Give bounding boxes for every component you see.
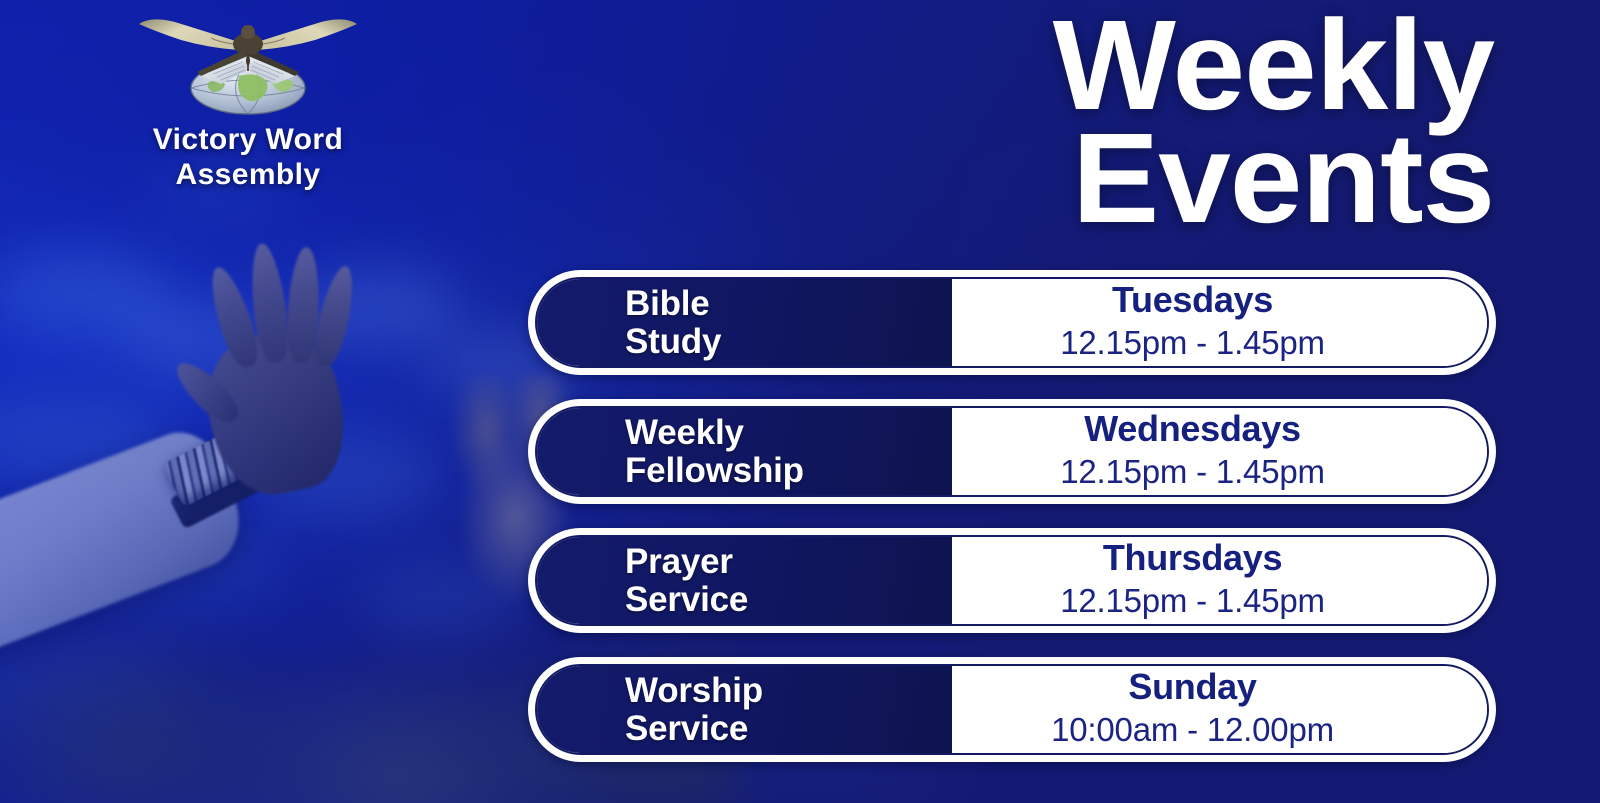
event-name-line-1: Bible (625, 284, 710, 323)
brand-name-line-2: Assembly (176, 158, 321, 191)
event-name-cell: Bible Study (537, 279, 952, 366)
event-schedule-cell: Thursdays 12.15pm - 1.45pm (952, 537, 1487, 624)
events-list: Bible Study Tuesdays 12.15pm - 1.45pm We… (528, 270, 1496, 762)
page-title: Weekly Events (1053, 10, 1494, 235)
event-time: 12.15pm - 1.45pm (1060, 584, 1325, 619)
dove-icon (139, 19, 357, 66)
event-day: Tuesdays (1112, 282, 1273, 319)
event-name-line-1: Weekly (625, 413, 744, 452)
event-day: Wednesdays (1084, 411, 1300, 448)
event-name-cell: Weekly Fellowship (537, 408, 952, 495)
event-name-line-2: Fellowship (625, 451, 804, 490)
event-schedule-cell: Sunday 10:00am - 12.00pm (952, 666, 1487, 753)
event-name: Prayer Service (625, 543, 748, 619)
event-name-cell: Prayer Service (537, 537, 952, 624)
event-time: 12.15pm - 1.45pm (1060, 455, 1325, 490)
event-day: Thursdays (1103, 540, 1282, 577)
event-schedule-cell: Wednesdays 12.15pm - 1.45pm (952, 408, 1487, 495)
event-time: 10:00am - 12.00pm (1051, 713, 1334, 748)
event-name-cell: Worship Service (537, 666, 952, 753)
brand-block: Victory Word Assembly (78, 14, 418, 193)
brand-name-line-1: Victory Word (153, 123, 343, 156)
event-name-line-2: Service (625, 580, 748, 619)
event-name: Worship Service (625, 672, 763, 748)
event-name-line-1: Worship (625, 671, 763, 710)
event-row: Weekly Fellowship Wednesdays 12.15pm - 1… (528, 399, 1496, 504)
event-row: Worship Service Sunday 10:00am - 12.00pm (528, 657, 1496, 762)
event-row: Bible Study Tuesdays 12.15pm - 1.45pm (528, 270, 1496, 375)
event-row: Prayer Service Thursdays 12.15pm - 1.45p… (528, 528, 1496, 633)
brand-name: Victory Word Assembly (78, 122, 418, 193)
event-day: Sunday (1128, 669, 1256, 706)
event-time: 12.15pm - 1.45pm (1060, 326, 1325, 361)
event-name: Weekly Fellowship (625, 414, 804, 490)
event-name-line-2: Service (625, 709, 748, 748)
page-title-line-1: Weekly (1053, 10, 1494, 123)
event-name: Bible Study (625, 285, 721, 361)
event-name-line-1: Prayer (625, 542, 733, 581)
weekly-events-flyer: Victory Word Assembly Weekly Events Bibl… (0, 0, 1600, 803)
page-title-line-2: Events (1053, 123, 1494, 236)
dove-bible-globe-logo (135, 14, 361, 118)
event-name-line-2: Study (625, 322, 721, 361)
event-schedule-cell: Tuesdays 12.15pm - 1.45pm (952, 279, 1487, 366)
